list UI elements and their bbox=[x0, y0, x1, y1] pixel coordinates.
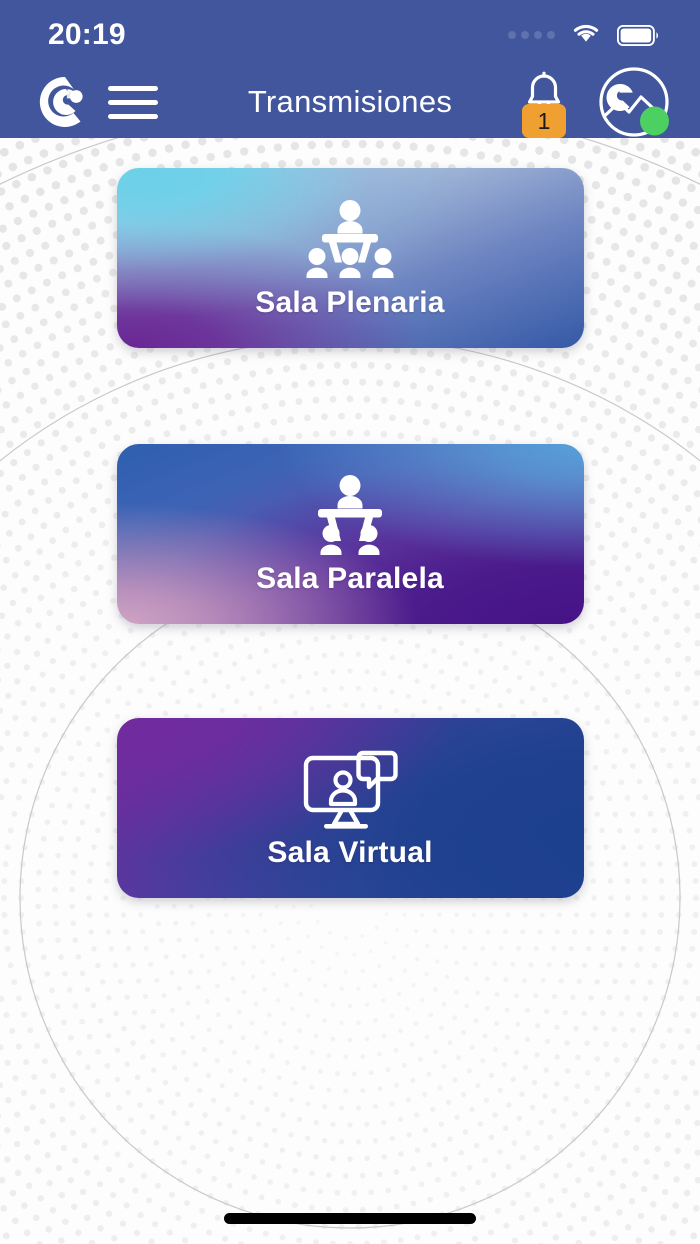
status-bar-indicators bbox=[508, 18, 660, 49]
app-header: Transmisiones 1 bbox=[0, 66, 700, 138]
phone-screen: 20:19 bbox=[0, 0, 700, 1244]
card-sala-paralela[interactable]: Sala Paralela bbox=[117, 444, 584, 624]
battery-full-icon bbox=[617, 25, 660, 46]
card-sala-plenaria[interactable]: Sala Plenaria bbox=[117, 168, 584, 348]
plenary-room-icon bbox=[296, 196, 404, 284]
hamburger-menu-icon[interactable] bbox=[108, 86, 158, 119]
card-label: Sala Plenaria bbox=[255, 286, 444, 320]
card-label: Sala Virtual bbox=[267, 836, 432, 870]
notifications-button[interactable]: 1 bbox=[516, 70, 572, 134]
home-indicator-bar[interactable] bbox=[224, 1213, 476, 1224]
status-bar: 20:19 bbox=[0, 0, 700, 66]
notifications-badge: 1 bbox=[522, 104, 566, 138]
signal-dots-icon bbox=[508, 31, 555, 39]
wifi-icon bbox=[571, 22, 601, 49]
header-left-group bbox=[0, 73, 158, 131]
virtual-room-icon bbox=[300, 746, 400, 834]
parallel-room-icon bbox=[305, 472, 395, 560]
card-label: Sala Paralela bbox=[256, 562, 444, 596]
header-right-group: 1 bbox=[516, 66, 700, 138]
room-card-list: Sala Plenaria Sala Paralela bbox=[0, 138, 700, 898]
card-sala-virtual[interactable]: Sala Virtual bbox=[117, 718, 584, 898]
status-bar-clock: 20:19 bbox=[48, 14, 126, 52]
user-avatar-icon[interactable] bbox=[598, 66, 670, 138]
app-logo-icon[interactable] bbox=[36, 73, 94, 131]
